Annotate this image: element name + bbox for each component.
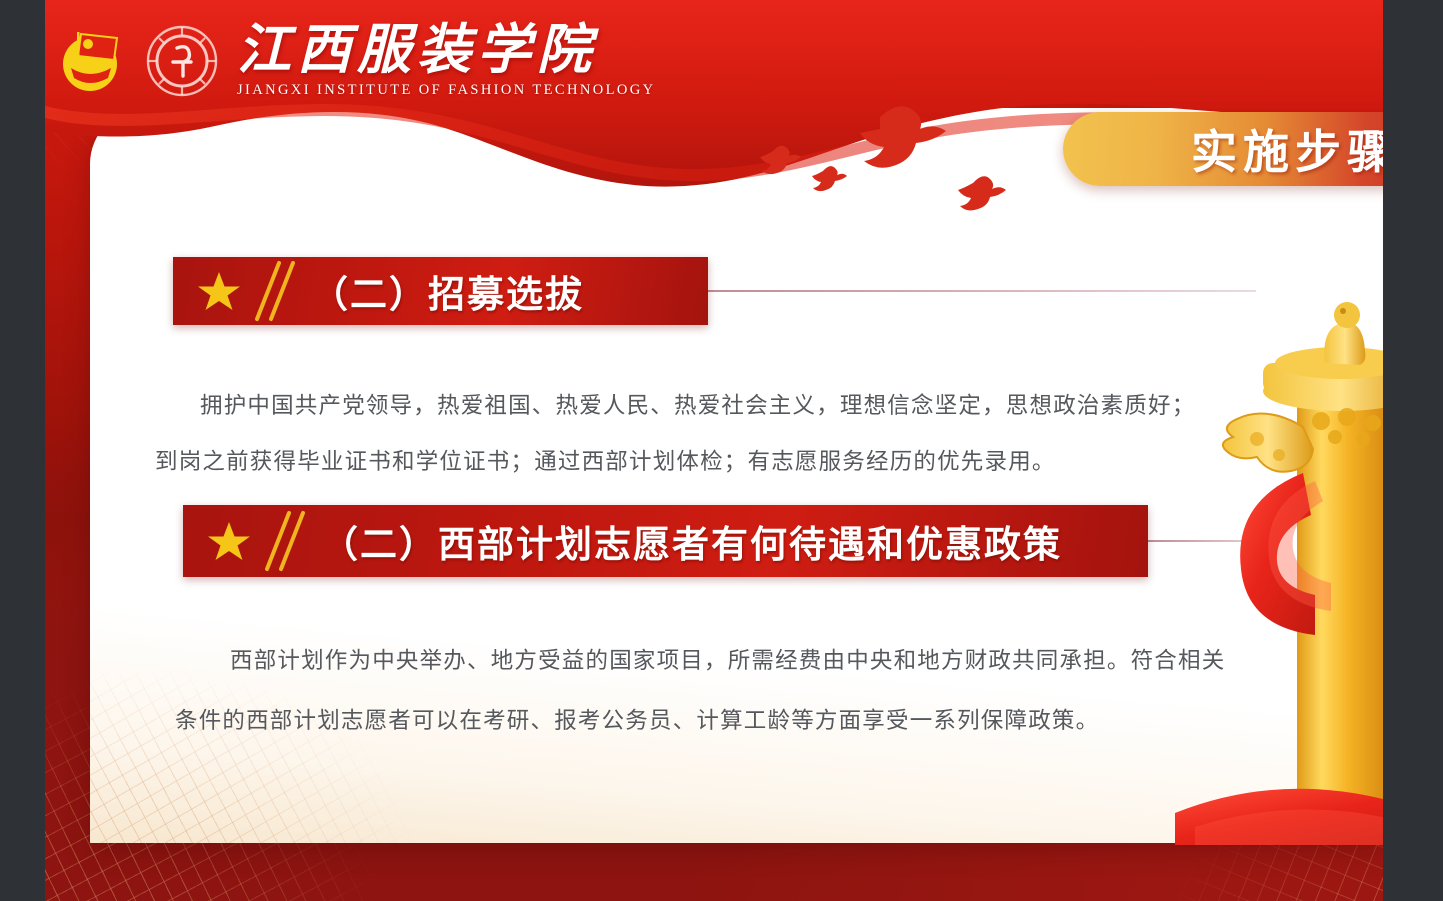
school-name-en: JIANGXI INSTITUTE OF FASHION TECHNOLOGY <box>237 82 656 99</box>
school-name-cn: 江西服装学院 <box>237 23 656 77</box>
gold-star-icon <box>207 519 251 563</box>
section-rule <box>1148 540 1276 542</box>
paragraph-line: 西部计划作为中央举办、地方受益的国家项目，所需经费由中央和地方财政共同承担。符合… <box>230 633 1225 689</box>
paragraph-line: 条件的西部计划志愿者可以在考研、报考公务员、计算工龄等方面享受一系列保障政策。 <box>175 693 1099 749</box>
slide-stage: 江西服装学院 JIANGXI INSTITUTE OF FASHION TECH… <box>45 0 1383 901</box>
double-slash-icon <box>243 257 297 325</box>
section-badge-label: 实施步骤 <box>1191 116 1383 182</box>
section-badge: 实施步骤 <box>1063 112 1383 186</box>
section-rule <box>708 290 1256 292</box>
gold-star-icon <box>197 269 241 313</box>
paragraph-line: 拥护中国共产党领导，热爱祖国、热爱人民、热爱社会主义，理想信念坚定，思想政治素质… <box>200 378 1195 434</box>
university-seal-logo <box>143 22 221 100</box>
section-banner: （二）招募选拔 <box>173 257 708 325</box>
communist-youth-league-emblem <box>55 24 129 98</box>
school-name-block: 江西服装学院 JIANGXI INSTITUTE OF FASHION TECH… <box>237 23 656 99</box>
section-title: （二）西部计划志愿者有何待遇和优惠政策 <box>321 514 1062 568</box>
section-banner: （二）西部计划志愿者有何待遇和优惠政策 <box>183 505 1148 577</box>
section-header-recruitment: （二）招募选拔 <box>173 257 1256 325</box>
section-title: （二）招募选拔 <box>311 264 584 318</box>
header-branding: 江西服装学院 JIANGXI INSTITUTE OF FASHION TECH… <box>55 22 656 100</box>
section-header-benefits: （二）西部计划志愿者有何待遇和优惠政策 <box>183 505 1276 577</box>
screen: 江西服装学院 JIANGXI INSTITUTE OF FASHION TECH… <box>0 0 1443 901</box>
paragraph-line: 到岗之前获得毕业证书和学位证书；通过西部计划体检；有志愿服务经历的优先录用。 <box>155 434 1056 490</box>
double-slash-icon <box>253 507 307 575</box>
